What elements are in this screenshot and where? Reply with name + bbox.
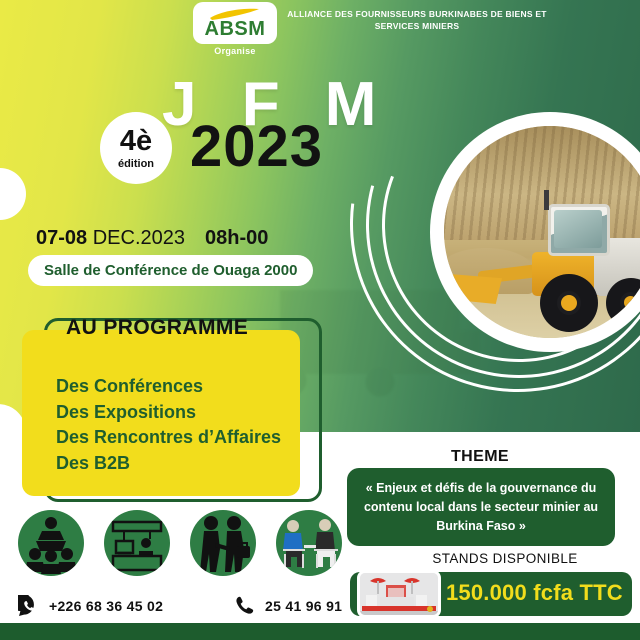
quarry-rock-wall bbox=[444, 126, 640, 240]
conference-icon bbox=[18, 510, 84, 576]
edition-number: 4è bbox=[120, 127, 152, 156]
programme-list: Des Conférences Des Expositions Des Renc… bbox=[56, 374, 281, 476]
exhibition-stand-icon bbox=[104, 510, 170, 576]
programme-item: Des Conférences bbox=[56, 374, 281, 400]
event-dates: 07-08 bbox=[36, 227, 87, 249]
logo-caption: Organise bbox=[193, 46, 277, 56]
loader-exhaust-stack bbox=[544, 190, 549, 210]
edition-word: édition bbox=[118, 159, 154, 170]
whatsapp-number: +226 68 36 45 02 bbox=[49, 598, 163, 614]
association-name: ALLIANCE DES FOURNISSEURS BURKINABES DE … bbox=[286, 8, 548, 33]
event-time: 08h-00 bbox=[205, 227, 268, 249]
bottom-green-bar bbox=[0, 623, 640, 640]
wheel-loader-quarry-photo bbox=[444, 126, 640, 338]
phone-icon bbox=[234, 595, 256, 617]
loader-bucket bbox=[450, 274, 502, 304]
loader-cab-glass bbox=[554, 210, 602, 248]
programme-heading: AU PROGRAMME bbox=[66, 316, 248, 340]
event-poster: ABSM Organise ALLIANCE DES FOURNISSEURS … bbox=[0, 0, 640, 640]
stand-price: 150.000 fcfa TTC bbox=[446, 580, 628, 606]
contact-whatsapp[interactable]: +226 68 36 45 02 bbox=[18, 595, 163, 617]
programme-item: Des Expositions bbox=[56, 400, 281, 426]
theme-text: « Enjeux et défis de la gouvernance du c… bbox=[347, 468, 615, 546]
theme-heading: THEME bbox=[330, 448, 630, 466]
contact-phone[interactable]: 25 41 96 91 bbox=[234, 595, 342, 617]
event-venue: Salle de Conférence de Ouaga 2000 bbox=[28, 255, 313, 286]
exhibition-booth-photo-inner bbox=[360, 573, 438, 615]
logo-wordmark: ABSM bbox=[205, 19, 266, 39]
edition-badge: 4è édition bbox=[100, 112, 172, 184]
activity-icon-row bbox=[18, 510, 342, 576]
exhibition-booth-photo bbox=[357, 570, 441, 618]
event-month-year: DEC.2023 bbox=[93, 227, 185, 249]
whatsapp-icon bbox=[18, 595, 40, 617]
programme-item: Des Rencontres d’Affaires bbox=[56, 425, 281, 451]
event-date-line: 07-08 DEC.202308h-00 bbox=[36, 228, 268, 248]
absm-logo: ABSM bbox=[193, 2, 277, 44]
stands-available-label: STANDS DISPONIBLE bbox=[390, 551, 620, 566]
loader-rear-hub bbox=[620, 292, 640, 313]
phone-number: 25 41 96 91 bbox=[265, 598, 342, 614]
handshake-icon bbox=[190, 510, 256, 576]
b2b-meeting-icon bbox=[276, 510, 342, 576]
event-year: 2023 bbox=[190, 118, 323, 176]
programme-item: Des B2B bbox=[56, 451, 281, 477]
loader-front-hub bbox=[557, 291, 581, 315]
